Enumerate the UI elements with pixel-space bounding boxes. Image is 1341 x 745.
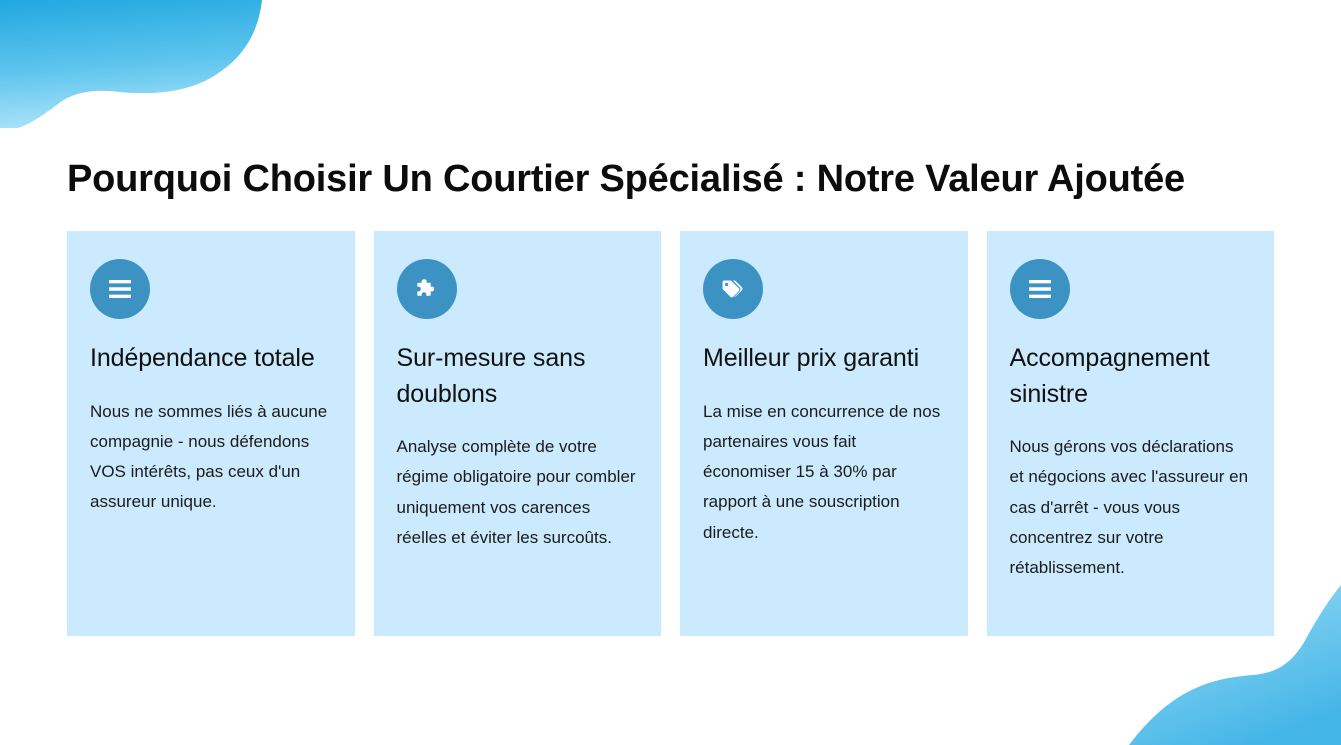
card-title: Accompagnement sinistre	[1010, 341, 1252, 412]
card-body: La mise en concurrence de nos partenaire…	[703, 397, 945, 548]
value-card: Accompagnement sinistre Nous gérons vos …	[987, 231, 1275, 636]
value-proposition-card-list: Indépendance totale Nous ne sommes liés …	[67, 231, 1274, 636]
card-title: Indépendance totale	[90, 341, 332, 377]
puzzle-piece-icon	[397, 259, 457, 319]
slide-canvas: Pourquoi Choisir Un Courtier Spécialisé …	[0, 0, 1341, 745]
card-body: Analyse complète de votre régime obligat…	[397, 432, 639, 553]
value-card: Sur-mesure sans doublons Analyse complèt…	[374, 231, 662, 636]
card-title: Meilleur prix garanti	[703, 341, 945, 377]
value-card: Indépendance totale Nous ne sommes liés …	[67, 231, 355, 636]
card-body: Nous gérons vos déclarations et négocion…	[1010, 432, 1252, 583]
bars-icon	[90, 259, 150, 319]
card-body: Nous ne sommes liés à aucune compagnie -…	[90, 397, 332, 518]
card-title: Sur-mesure sans doublons	[397, 341, 639, 412]
bars-icon	[1010, 259, 1070, 319]
value-card: Meilleur prix garanti La mise en concurr…	[680, 231, 968, 636]
top-left-blob-decoration	[0, 0, 262, 128]
tags-icon	[703, 259, 763, 319]
page-title: Pourquoi Choisir Un Courtier Spécialisé …	[67, 157, 1185, 203]
